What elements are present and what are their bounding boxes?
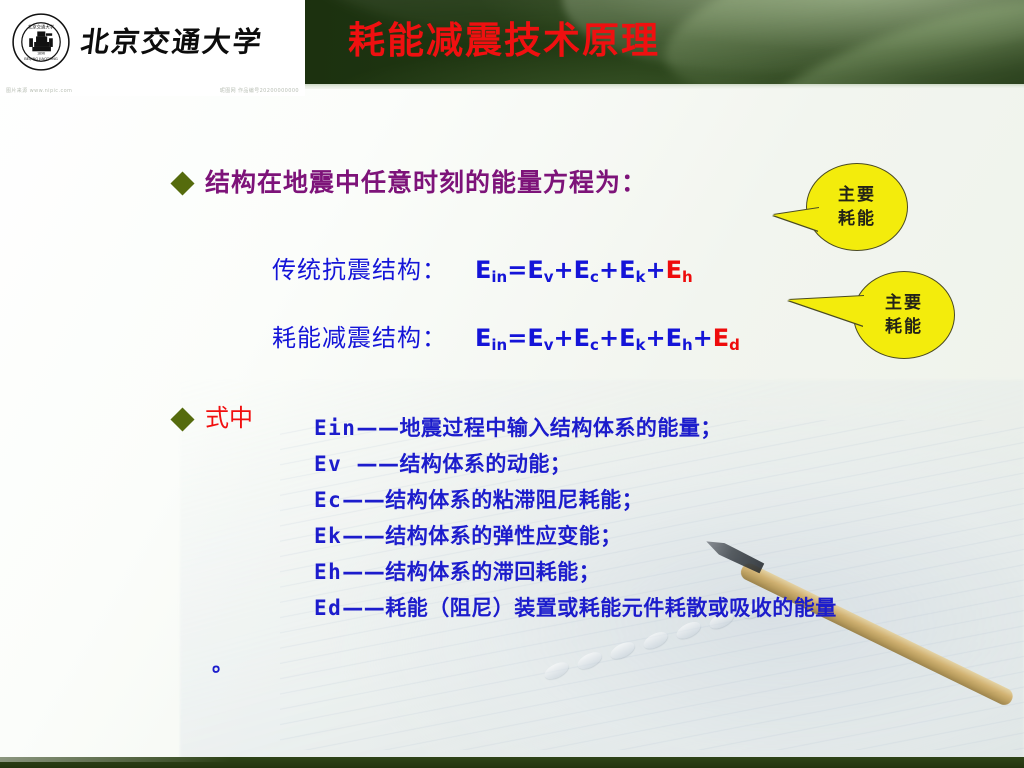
definition-item: Ed——耗能（阻尼）装置或耗能元件耗散或吸收的能量: [314, 590, 1014, 626]
callout-tail-top: [773, 208, 819, 231]
callout-main-dissipation-bottom: 主要 耗能: [853, 271, 955, 359]
definition-dash: ——: [342, 524, 385, 548]
definition-text: 地震过程中输入结构体系的能量；: [399, 416, 722, 440]
definition-item: Ec——结构体系的粘滞阻尼耗能；: [314, 482, 1014, 518]
bullet-energy-equation: 结构在地震中任意时刻的能量方程为：: [174, 166, 647, 200]
definition-symbol: Ev: [314, 452, 356, 476]
definition-item: Ev ——结构体系的动能；: [314, 446, 1014, 482]
footer-bar-highlight: [0, 757, 230, 762]
formula-traditional: 传统抗震结构：Ein=Ev+Ec+Ek+Eh: [272, 252, 693, 291]
definition-symbol: Ein: [314, 416, 356, 440]
definition-symbol: Eh: [314, 560, 342, 584]
bullet-where-label: 式中: [205, 402, 253, 434]
definition-text: 结构体系的动能；: [399, 452, 571, 476]
callout-bottom-line2: 耗能: [885, 315, 923, 339]
definition-dash: ——: [342, 488, 385, 512]
bullet-energy-equation-label: 结构在地震中任意时刻的能量方程为：: [205, 166, 647, 200]
bullet-where: 式中: [174, 402, 253, 434]
formula-damped-equation: Ein=Ev+Ec+Ek+Eh+Ed: [475, 324, 740, 352]
formula-traditional-equation: Ein=Ev+Ec+Ek+Eh: [475, 256, 693, 284]
callout-main-dissipation-top: 主要 耗能: [806, 163, 908, 251]
definition-dash: ——: [342, 560, 385, 584]
callout-top-line2: 耗能: [838, 207, 876, 231]
definition-text: 结构体系的滞回耗能；: [385, 560, 600, 584]
callout-top-line1: 主要: [838, 183, 876, 207]
definition-item: Ein——地震过程中输入结构体系的能量；: [314, 410, 1014, 446]
symbol-definition-list: Ein——地震过程中输入结构体系的能量； Ev ——结构体系的动能； Ec——结…: [314, 410, 1014, 626]
definition-item: Ek——结构体系的弹性应变能；: [314, 518, 1014, 554]
formula-damped: 耗能减震结构：Ein=Ev+Ec+Ek+Eh+Ed: [272, 320, 740, 359]
callout-bottom-line1: 主要: [885, 291, 923, 315]
definition-trailing-period: 。: [212, 648, 233, 678]
slide-canvas: 耗能减震技术原理 北京交通大学 BEIJING JIAOTONG 1896 北京…: [0, 0, 1024, 768]
definition-text: 耗能（阻尼）装置或耗能元件耗散或吸收的能量: [385, 596, 837, 620]
definition-dash: ——: [342, 596, 385, 620]
slide-body: 结构在地震中任意时刻的能量方程为： 传统抗震结构：Ein=Ev+Ec+Ek+Eh…: [0, 0, 1024, 768]
formula-traditional-label: 传统抗震结构：: [272, 256, 447, 284]
definition-dash: ——: [356, 452, 399, 476]
definition-text: 结构体系的粘滞阻尼耗能；: [385, 488, 643, 512]
definition-text: 结构体系的弹性应变能；: [385, 524, 622, 548]
definition-item: Eh——结构体系的滞回耗能；: [314, 554, 1014, 590]
formula-damped-label: 耗能减震结构：: [272, 324, 447, 352]
definition-dash: ——: [356, 416, 399, 440]
callout-tail-bottom: [788, 296, 864, 326]
definition-symbol: Ek: [314, 524, 342, 548]
diamond-bullet-icon: [170, 171, 194, 195]
diamond-bullet-icon: [170, 407, 194, 431]
definition-symbol: Ec: [314, 488, 342, 512]
definition-symbol: Ed: [314, 596, 342, 620]
